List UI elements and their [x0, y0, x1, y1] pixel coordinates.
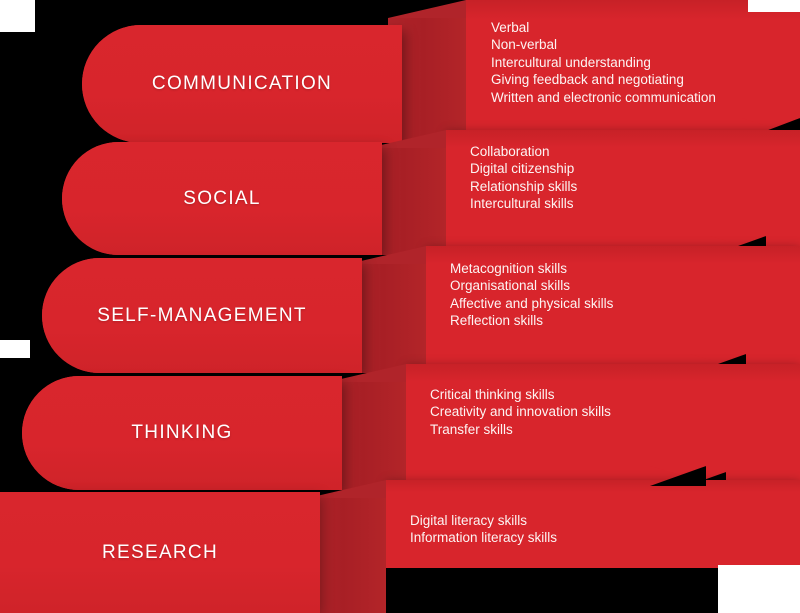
panel-notch-tip-icon: [742, 118, 800, 127]
list-item: Critical thinking skills: [430, 386, 611, 403]
list-item: Reflection skills: [450, 312, 613, 329]
category-pill-self-management[interactable]: SELF-MANAGEMENT: [42, 258, 362, 373]
category-label-social: SOCIAL: [183, 188, 261, 210]
panel-notch-tip-icon: [690, 354, 746, 362]
list-item: Affective and physical skills: [450, 295, 613, 312]
category-label-thinking: THINKING: [131, 422, 232, 444]
list-item: Information literacy skills: [410, 529, 557, 546]
list-item: Digital citizenship: [470, 160, 577, 177]
list-item: Digital literacy skills: [410, 512, 557, 529]
category-label-communication: COMMUNICATION: [152, 73, 332, 95]
list-item: Creativity and innovation skills: [430, 403, 611, 420]
category-label-research: RESEARCH: [102, 542, 218, 564]
list-item: Relationship skills: [470, 178, 577, 195]
category-pill-social[interactable]: SOCIAL: [62, 142, 382, 255]
canvas-corner-bottom-right: [718, 565, 800, 613]
category-pill-thinking[interactable]: THINKING: [22, 376, 342, 490]
list-item: Non-verbal: [491, 36, 716, 53]
list-item: Verbal: [491, 19, 716, 36]
panel-notch-tip-icon: [650, 466, 706, 474]
list-item: Transfer skills: [430, 421, 611, 438]
list-item: Giving feedback and negotiating: [491, 71, 716, 88]
canvas-corner-bottom-left: [0, 340, 30, 358]
skill-list-communication: Verbal Non-verbal Intercultural understa…: [491, 19, 716, 106]
canvas-corner-top-left: [0, 0, 35, 32]
list-item: Written and electronic communication: [491, 89, 716, 106]
category-pill-communication[interactable]: COMMUNICATION: [82, 25, 402, 143]
list-item: Collaboration: [470, 143, 577, 160]
panel-notch-tip-icon: [710, 236, 766, 244]
skill-list-social: Collaboration Digital citizenship Relati…: [470, 143, 577, 213]
list-item: Intercultural understanding: [491, 54, 716, 71]
ribbon-fold-bevel: [388, 0, 466, 18]
skill-list-thinking: Critical thinking skills Creativity and …: [430, 386, 611, 438]
canvas-corner-top-right: [748, 0, 800, 12]
category-pill-research[interactable]: RESEARCH: [0, 492, 320, 613]
category-label-self-management: SELF-MANAGEMENT: [97, 305, 307, 327]
diagram-canvas: COMMUNICATION Verbal Non-verbal Intercul…: [0, 0, 800, 613]
list-item: Intercultural skills: [470, 195, 577, 212]
list-item: Organisational skills: [450, 277, 613, 294]
list-item: Metacognition skills: [450, 260, 613, 277]
skill-list-research: Digital literacy skills Information lite…: [410, 512, 557, 547]
skill-list-self-management: Metacognition skills Organisational skil…: [450, 260, 613, 330]
